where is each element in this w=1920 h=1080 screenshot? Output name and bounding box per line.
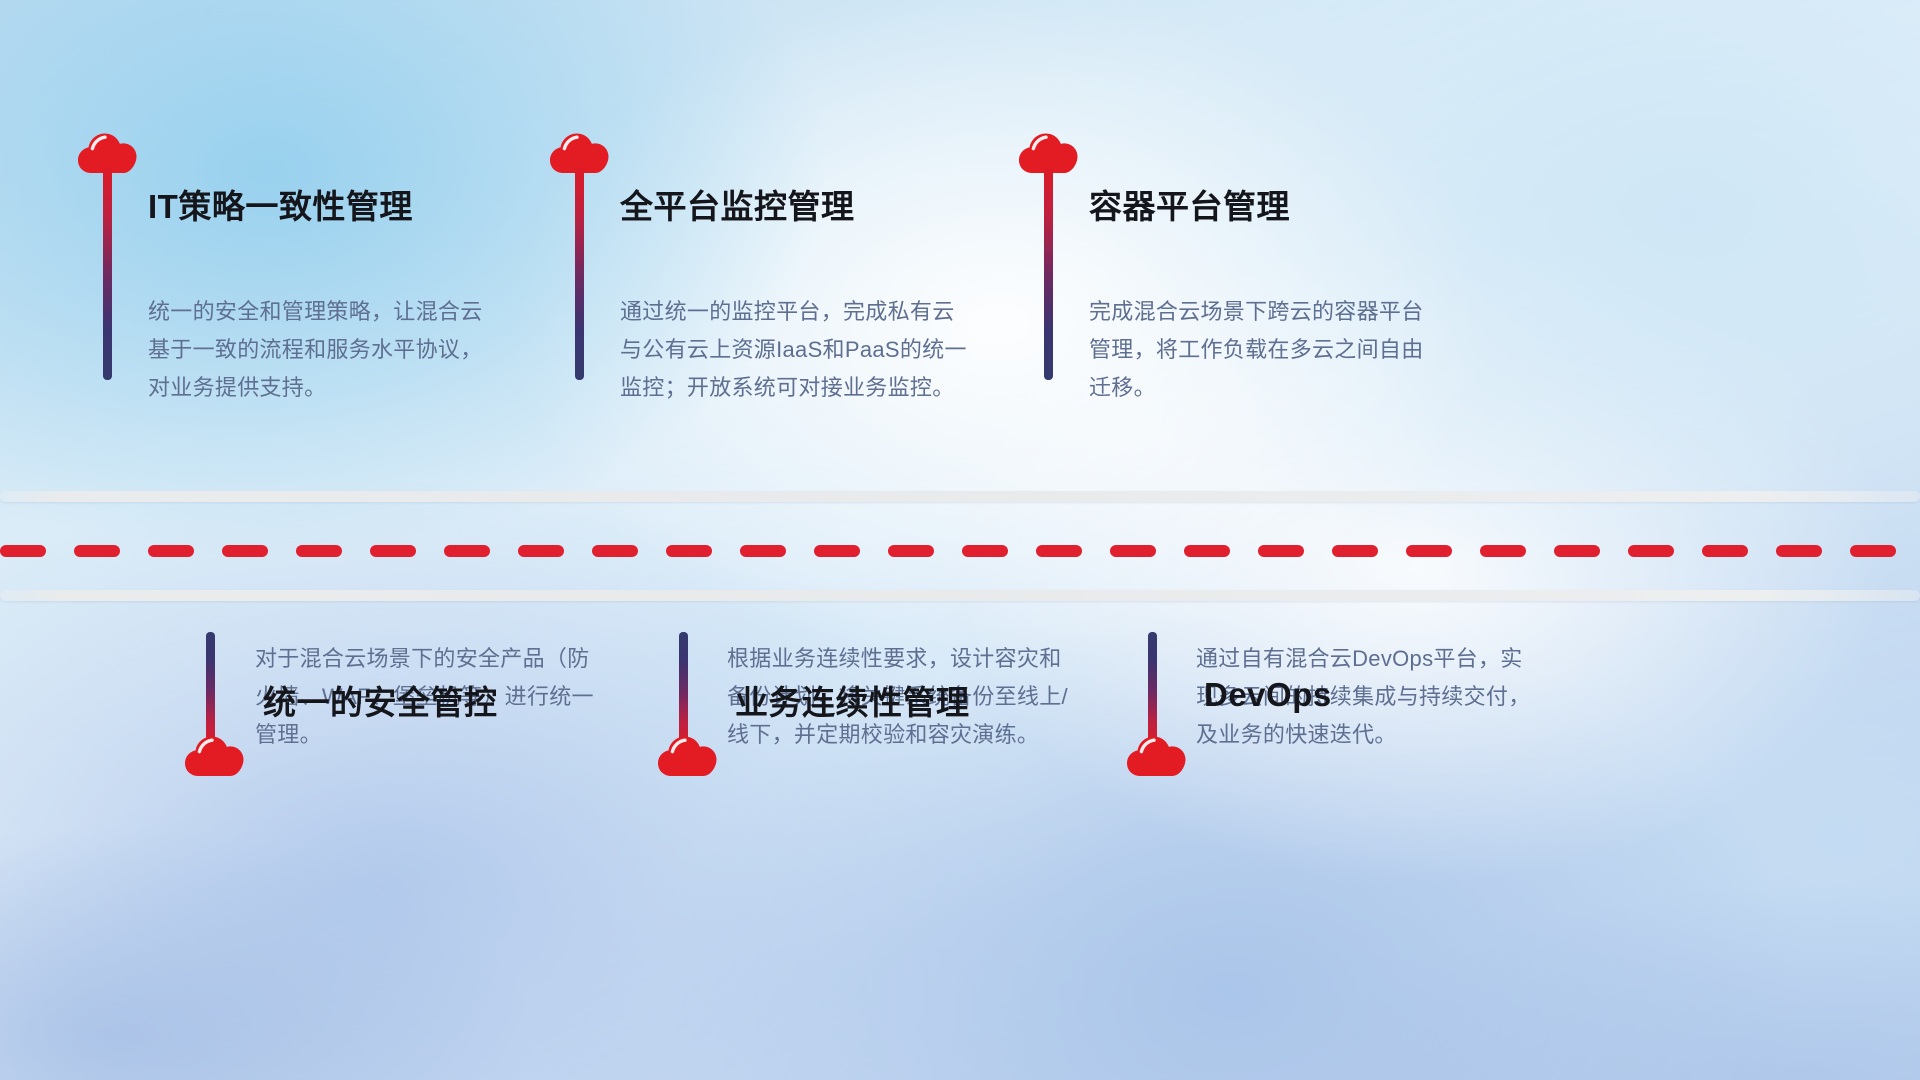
top-item-3-body: 完成混合云场景下跨云的容器平台管理，将工作负载在多云之间自由迁移。 — [1089, 293, 1441, 407]
divider-dash — [1184, 545, 1230, 557]
divider-dash — [1702, 545, 1748, 557]
connector-stem — [1044, 168, 1053, 380]
connector-stem — [679, 632, 688, 749]
divider-dash — [444, 545, 490, 557]
divider-dash — [0, 545, 46, 557]
bottom-item-3-title: DevOps — [1204, 676, 1332, 714]
divider-dash — [1258, 545, 1304, 557]
top-item-2-body: 通过统一的监控平台，完成私有云与公有云上资源IaaS和PaaS的统一监控；开放系… — [620, 293, 972, 407]
divider-dash — [1850, 545, 1896, 557]
connector-stem — [1148, 632, 1157, 749]
divider-dash — [814, 545, 860, 557]
divider-dash — [740, 545, 786, 557]
divider-dash — [1110, 545, 1156, 557]
connector-stem — [103, 168, 112, 380]
divider-dashed-line — [0, 545, 1920, 557]
connector-stem — [575, 168, 584, 380]
divider-dash — [1776, 545, 1822, 557]
divider-dash — [370, 545, 416, 557]
divider-dash — [148, 545, 194, 557]
divider-dash — [1628, 545, 1674, 557]
top-item-2-title: 全平台监控管理 — [620, 180, 855, 228]
divider-dash — [296, 545, 342, 557]
divider-dash — [1480, 545, 1526, 557]
divider-dash — [888, 545, 934, 557]
divider-dash — [222, 545, 268, 557]
top-item-1-title: IT策略一致性管理 — [148, 180, 413, 228]
top-item-3-title: 容器平台管理 — [1089, 180, 1290, 228]
divider-dash — [518, 545, 564, 557]
divider-rule-top — [0, 491, 1920, 502]
divider-dash — [1406, 545, 1452, 557]
cloud-icon — [657, 733, 719, 777]
divider-dash — [74, 545, 120, 557]
divider-dash — [592, 545, 638, 557]
divider-dash — [1036, 545, 1082, 557]
divider-dash — [1554, 545, 1600, 557]
infographic-canvas: IT策略一致性管理 统一的安全和管理策略，让混合云基于一致的流程和服务水平协议，… — [0, 0, 1920, 1080]
top-item-1-body: 统一的安全和管理策略，让混合云基于一致的流程和服务水平协议，对业务提供支持。 — [148, 293, 498, 407]
divider-dash — [1332, 545, 1378, 557]
cloud-icon — [184, 733, 246, 777]
connector-stem — [206, 632, 215, 749]
divider-rule-bottom — [0, 590, 1920, 601]
bottom-item-2-title: 业务连续性管理 — [735, 676, 970, 724]
divider-dash — [962, 545, 1008, 557]
bottom-item-1-title: 统一的安全管控 — [263, 676, 498, 724]
cloud-icon — [1126, 733, 1188, 777]
divider-dash — [666, 545, 712, 557]
